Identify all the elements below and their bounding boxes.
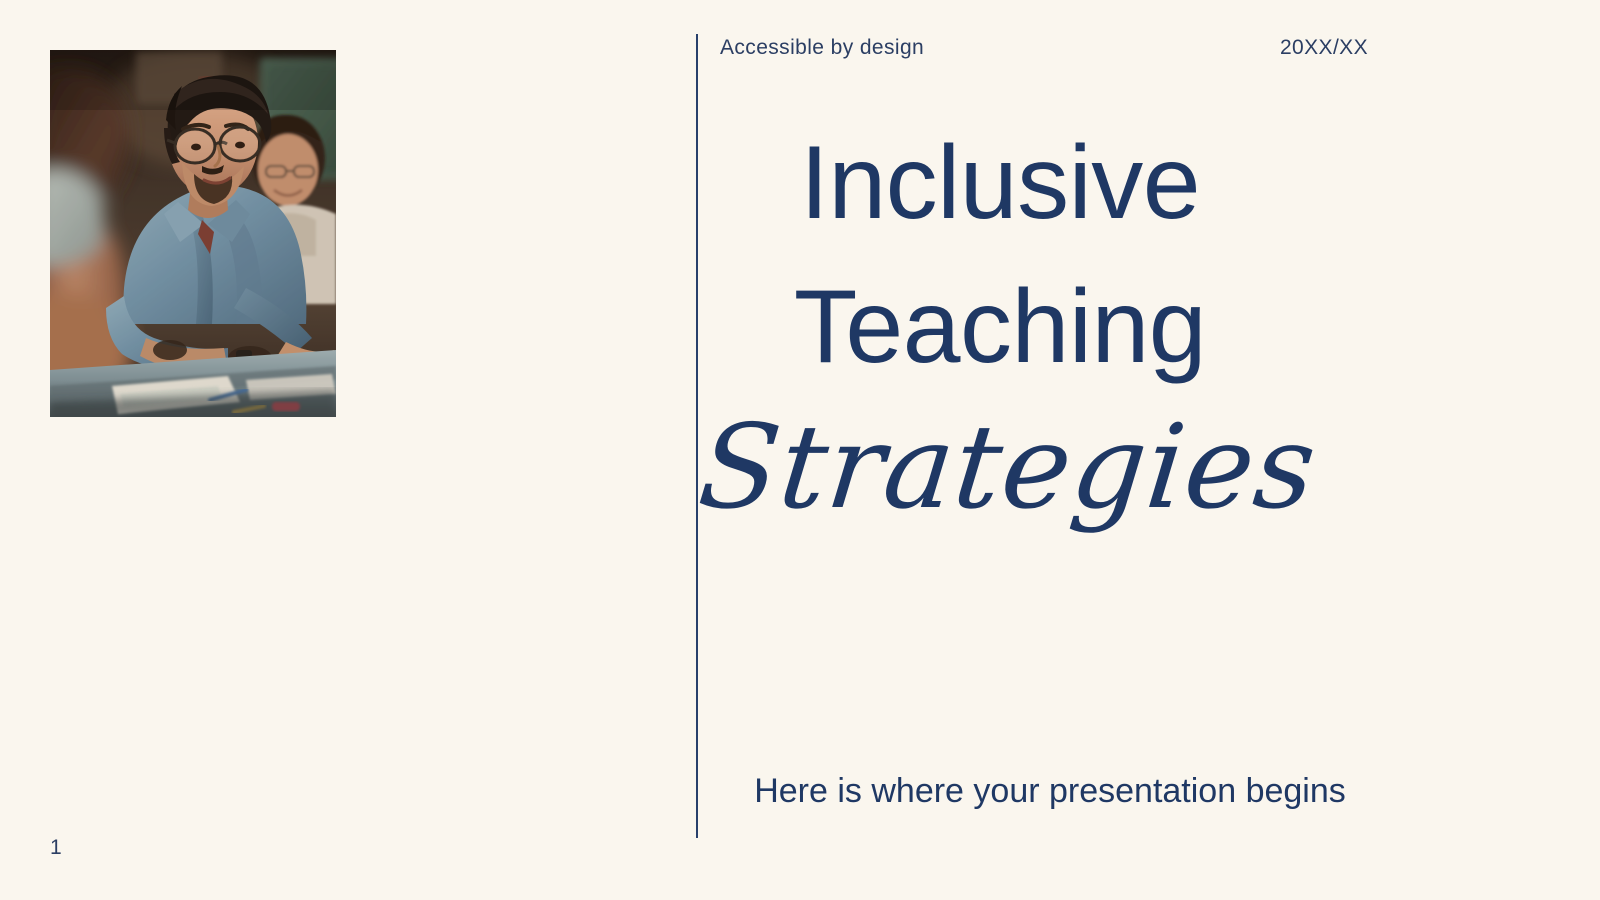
classroom-photo [50, 50, 336, 417]
presentation-slide: Accessible by design 20XX/XX Inclusive T… [0, 0, 1600, 900]
page-title: Inclusive Teaching Strategies [700, 112, 1300, 544]
header-date-text: 20XX/XX [1280, 36, 1368, 60]
title-line-2: Teaching [700, 256, 1300, 400]
slide-subtitle: Here is where your presentation begins [700, 772, 1400, 811]
title-line-1: Inclusive [700, 112, 1300, 256]
title-script-line: Strategies [692, 393, 1308, 544]
vertical-divider-rule [696, 34, 698, 838]
page-number: 1 [50, 836, 62, 860]
slide-header: Accessible by design 20XX/XX [720, 36, 1368, 60]
header-eyebrow-text: Accessible by design [720, 36, 924, 60]
